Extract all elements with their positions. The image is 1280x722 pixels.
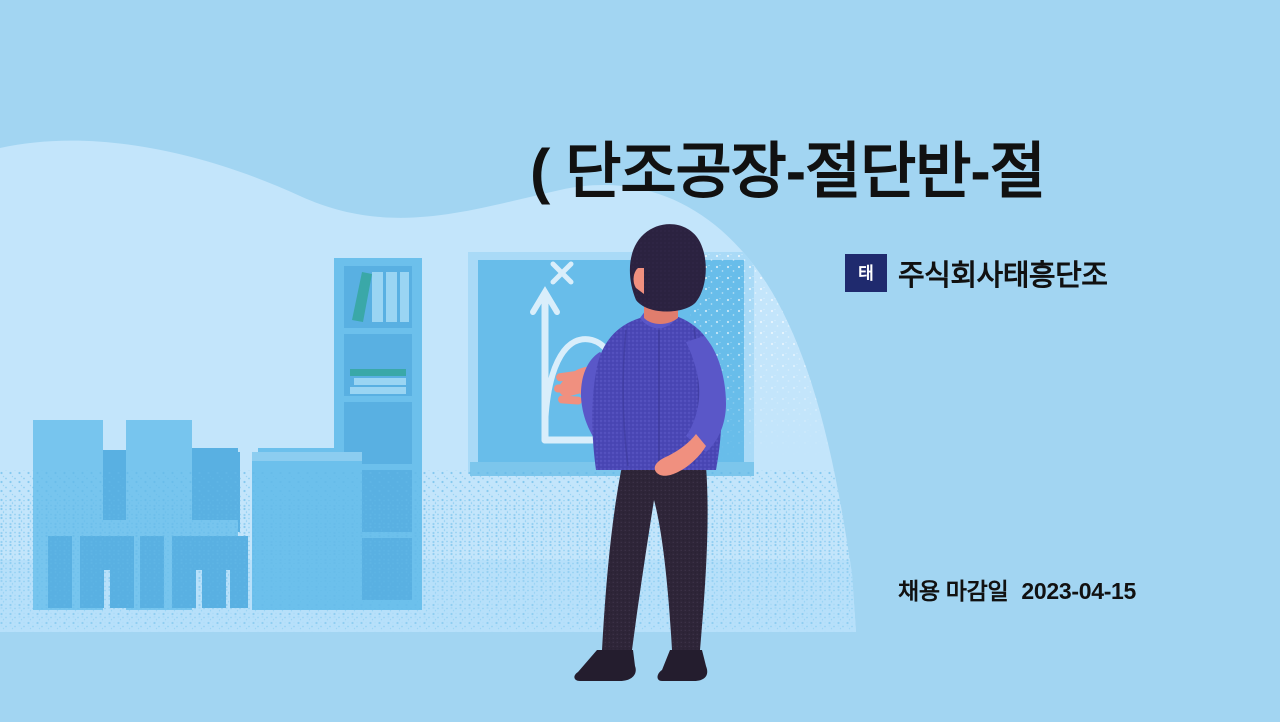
company-name: 주식회사태흥단조: [898, 252, 1107, 294]
office-illustration: [0, 0, 1280, 722]
hair: [630, 224, 706, 311]
page-title: ( 단조공장-절단반-절: [530, 136, 1280, 206]
deadline-date: 2023-04-15: [1021, 578, 1136, 605]
job-posting-banner: ( 단조공장-절단반-절 태 주식회사태흥단조 채용 마감일 2023-04-1…: [0, 0, 1280, 722]
books-top-shelf: [352, 272, 409, 322]
books-second-shelf: [350, 369, 406, 394]
company-row: 태 주식회사태흥단조: [845, 252, 1107, 294]
company-logo-badge: 태: [845, 254, 887, 292]
deadline-label: 채용 마감일: [898, 572, 1008, 606]
floor-stipple-texture-2: [0, 500, 900, 630]
left-hand-fingers: [554, 370, 583, 405]
deadline-row: 채용 마감일 2023-04-15: [898, 572, 1136, 606]
